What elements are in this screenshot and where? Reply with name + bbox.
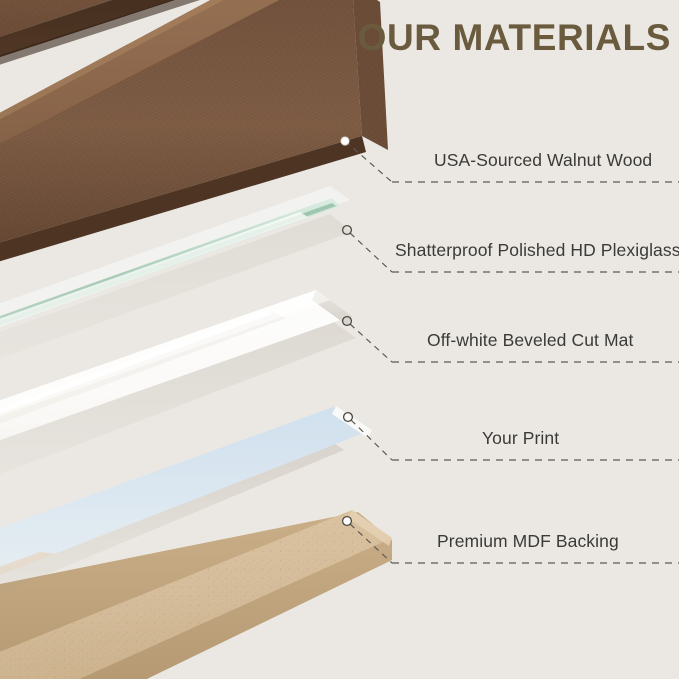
infographic-canvas: USA-Sourced Walnut Wood Shatterproof Pol…	[0, 0, 679, 679]
callout-leader-mdf-backing	[0, 0, 679, 679]
callout-marker-dot	[343, 517, 352, 526]
callout-mdf-backing: Premium MDF Backing	[0, 0, 679, 679]
leader-diagonal	[350, 524, 392, 563]
callout-label-mdf-backing: Premium MDF Backing	[437, 531, 619, 552]
page-title: OUR MATERIALS	[358, 19, 671, 56]
callout-group: USA-Sourced Walnut Wood Shatterproof Pol…	[0, 0, 679, 679]
